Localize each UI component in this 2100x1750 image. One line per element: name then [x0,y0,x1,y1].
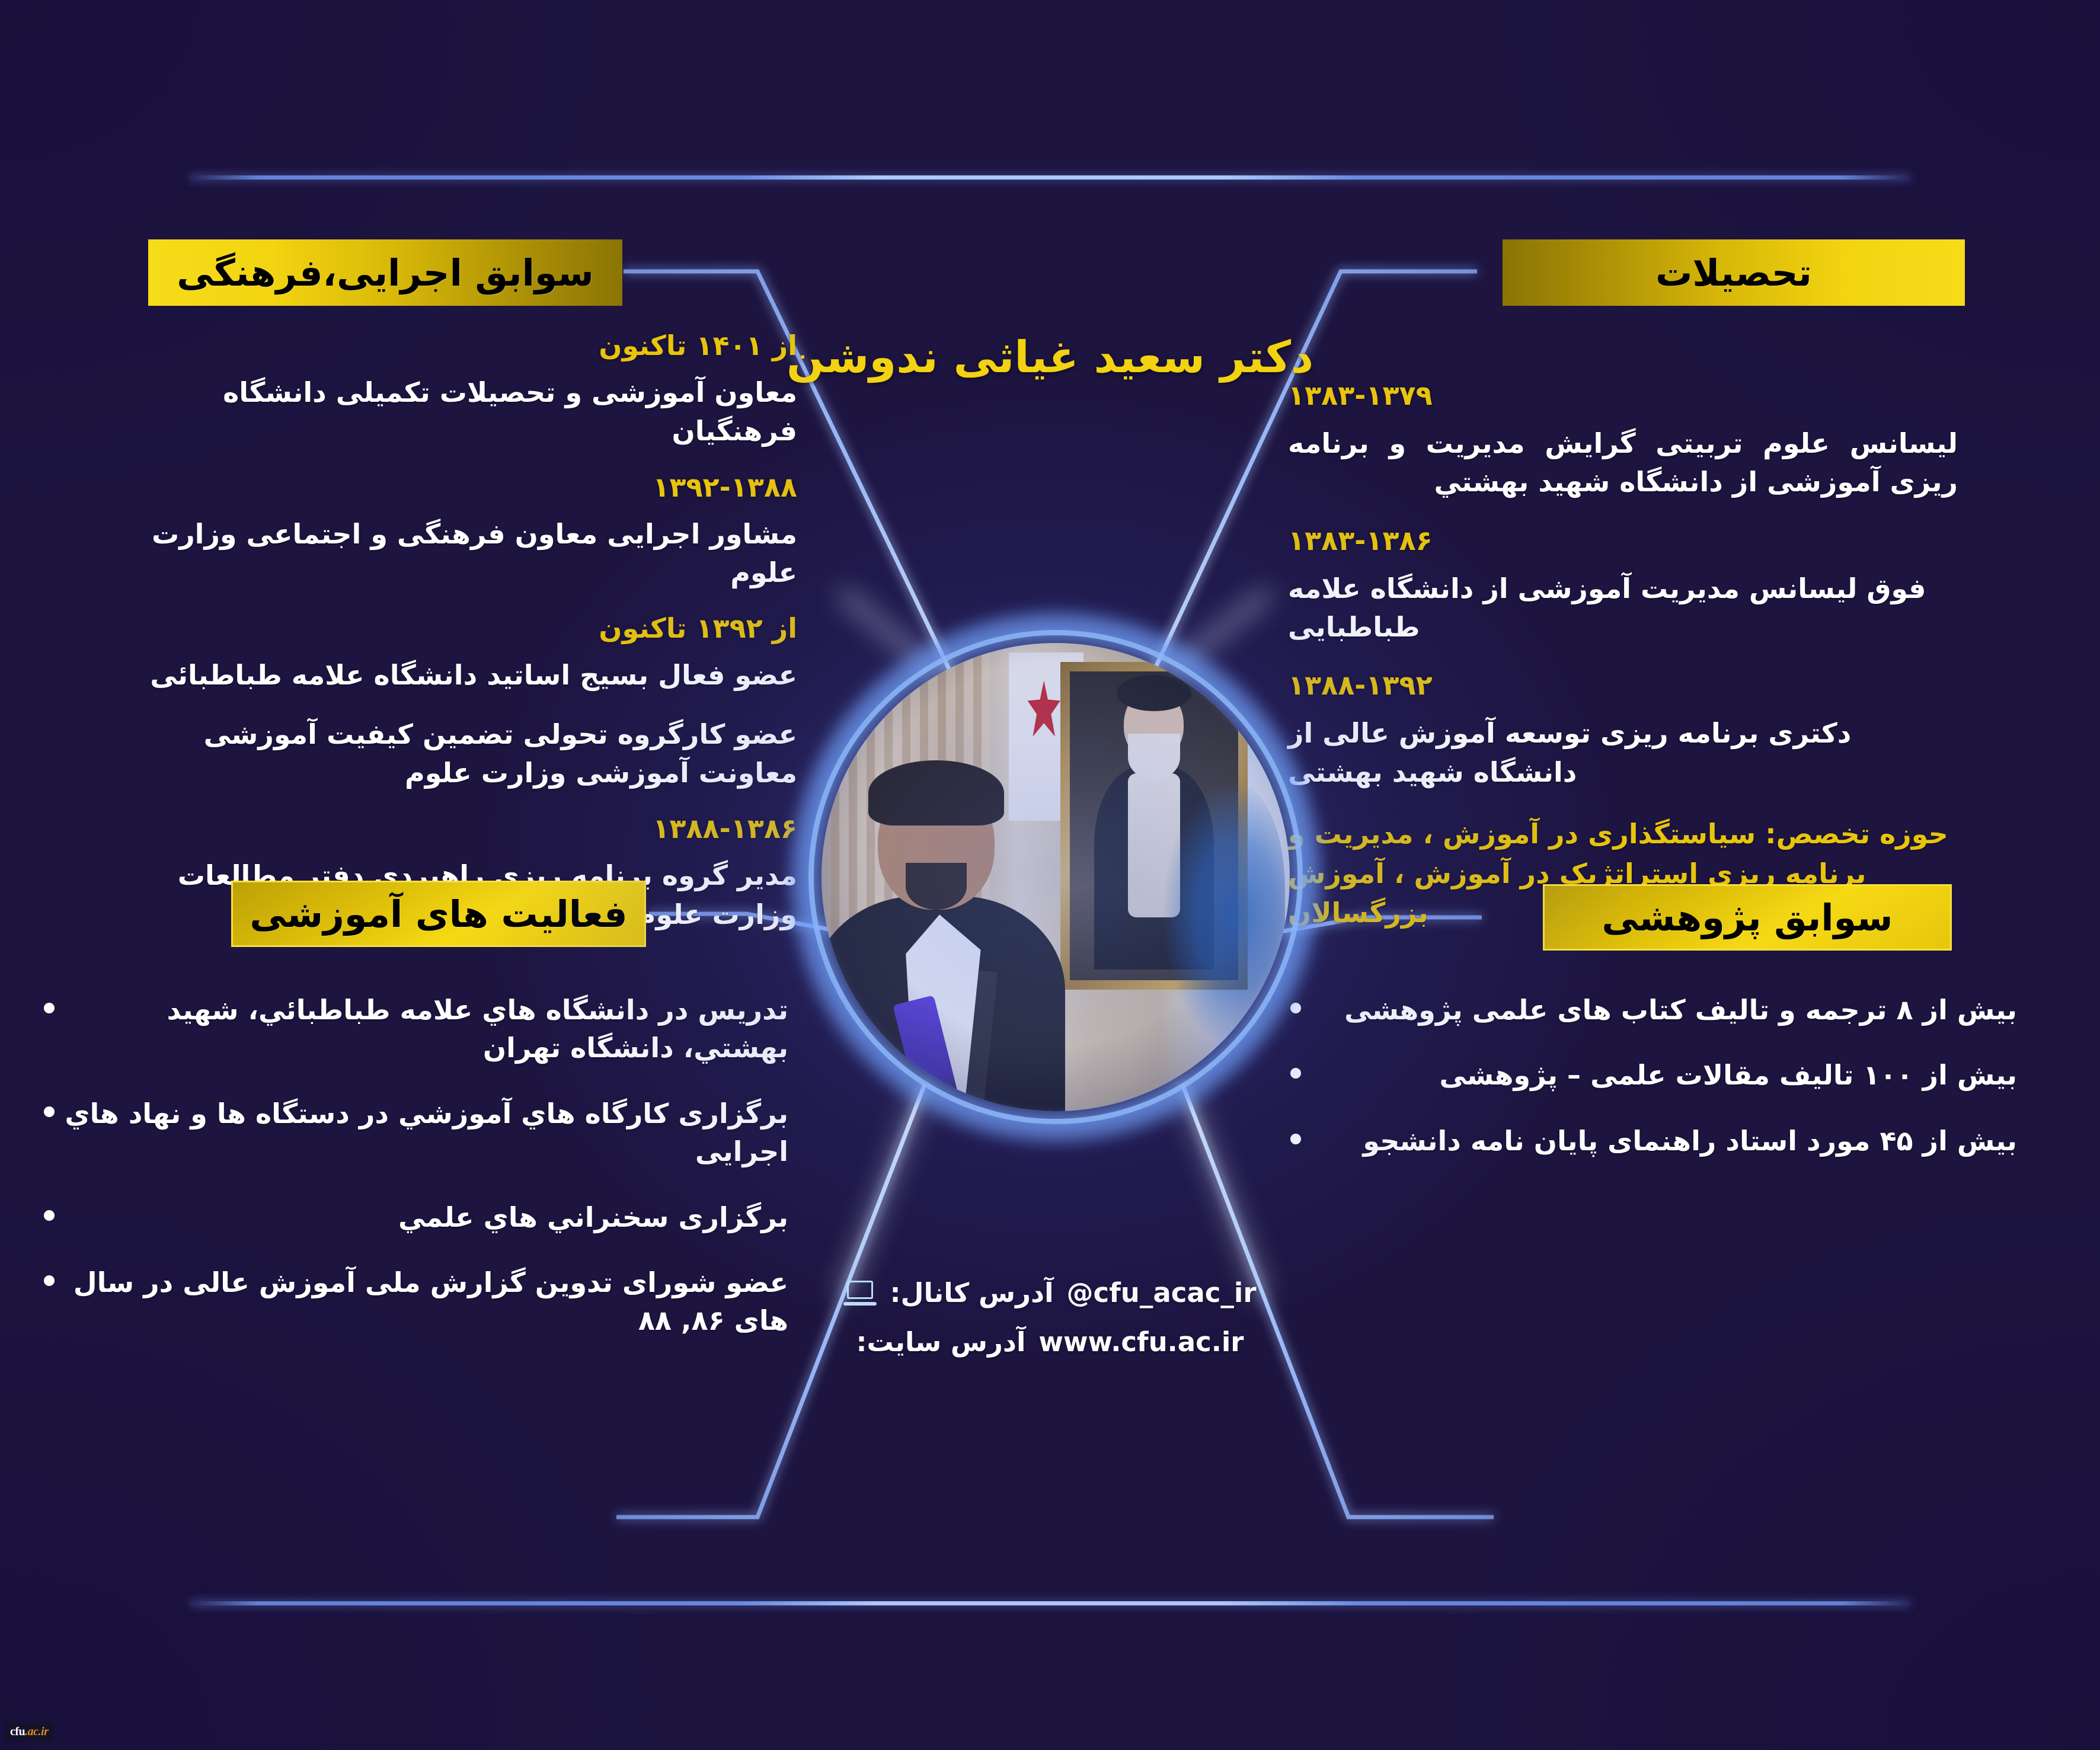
contact-channel-line: @cfu_acac_ir آدرس کانال: [0,1277,2100,1308]
section-header-executive: سوابق اجرایی،فرهنگی [148,239,622,306]
contact-channel-label: آدرس کانال: [890,1277,1053,1308]
laptop-icon [843,1281,877,1306]
research-item-1: بیش از ۸ ترجمه و تالیف کتاب های علمی پژو… [1301,991,2017,1029]
research-item-2: بیش از ۱۰۰ تالیف مقالات علمی – پژوهشی [1301,1056,2017,1094]
bullet-dot-icon [1290,1003,1301,1013]
contact-site-label: آدرس سایت: [856,1326,1026,1358]
research-records-list: بیش از ۸ ترجمه و تالیف کتاب های علمی پژو… [1270,991,2017,1187]
section-header-teaching: فعالیت های آموزشی [231,881,646,947]
list-item: بیش از ۱۰۰ تالیف مقالات علمی – پژوهشی [1270,1056,2017,1094]
education-text-2: فوق لیسانس مدیریت آموزشی از دانشگاه علام… [1288,570,1958,647]
bottom-divider-line [190,1601,1910,1605]
executive-period-5: ۱۳۸۸-۱۳۸۶ [145,812,797,844]
bullet-dot-icon [44,1003,55,1013]
research-item-3: بیش از ۴۵ مورد استاد راهنمای پایان نامه … [1301,1122,2017,1160]
executive-period-1: از ۱۴۰۱ تاکنون [145,329,797,361]
infographic-poster: دکتر سعید غیاثی ندوشن تحصیلات ۱۳۸۳-۱۳۷۹ … [0,0,2100,1750]
contact-channel-value[interactable]: @cfu_acac_ir [1067,1277,1257,1308]
executive-text-1: معاون آموزشی و تحصیلات تکمیلی دانشگاه فر… [145,373,797,451]
executive-text-2: مشاور اجرایی معاون فرهنگی و اجتماعی وزار… [145,515,797,593]
list-item: برگزاری کارگاه هاي آموزشي در دستگاه ها و… [24,1095,788,1171]
list-item: تدریس در دانشگاه هاي علامه طباطبائي، شهی… [24,991,788,1067]
portrait-container [822,643,1290,1111]
education-period-2: ۱۳۸۳-۱۳۸۶ [1288,524,1958,556]
list-item: بیش از ۴۵ مورد استاد راهنمای پایان نامه … [1270,1122,2017,1160]
contact-site-line: www.cfu.ac.ir آدرس سایت: [0,1326,2100,1358]
bullet-dot-icon [44,1106,55,1117]
watermark-part-1: cfu [10,1725,25,1738]
bullet-dot-icon [1290,1134,1301,1144]
bullet-dot-icon [1290,1068,1301,1079]
list-item: بیش از ۸ ترجمه و تالیف کتاب های علمی پژو… [1270,991,2017,1029]
section-header-education: تحصیلات [1503,239,1965,306]
contact-block: @cfu_acac_ir آدرس کانال: www.cfu.ac.ir آ… [0,1277,2100,1375]
teaching-item-2: برگزاری کارگاه هاي آموزشي در دستگاه ها و… [55,1095,788,1171]
executive-period-3: از ۱۳۹۲ تاکنون [145,612,797,644]
education-content: ۱۳۸۳-۱۳۷۹ لیسانس علوم تربیتی گرایش مدیری… [1288,379,1958,933]
education-period-1: ۱۳۸۳-۱۳۷۹ [1288,379,1958,411]
bullet-dot-icon [44,1210,55,1221]
education-text-3: دکتری برنامه ریزی توسعه آموزش عالی از دا… [1288,714,1958,792]
executive-period-2: ۱۳۹۲-۱۳۸۸ [145,471,797,503]
contact-site-value[interactable]: www.cfu.ac.ir [1038,1326,1244,1358]
vignette-bottom-right [1389,1157,2100,1750]
executive-text-3: عضو فعال بسیج اساتید دانشگاه علامه طباطب… [145,656,797,695]
list-item: برگزاری سخنراني هاي علمي [24,1198,788,1236]
watermark-part-2: .ac.ir [25,1725,48,1738]
site-watermark: cfu.ac.ir [5,1722,53,1742]
section-header-research: سوابق پژوهشی [1543,884,1952,951]
top-divider-line [190,175,1910,180]
executive-content: از ۱۴۰۱ تاکنون معاون آموزشی و تحصیلات تک… [145,329,797,954]
executive-text-4: عضو کارگروه تحولی تضمین کیفیت آموزشی معا… [145,715,797,793]
education-text-1: لیسانس علوم تربیتی گرایش مدیریت و برنامه… [1288,424,1958,502]
teaching-item-3: برگزاری سخنراني هاي علمي [55,1198,788,1236]
teaching-item-1: تدریس در دانشگاه هاي علامه طباطبائي، شهی… [55,991,788,1067]
portrait-ring [808,630,1303,1124]
education-period-3: ۱۳۸۸-۱۳۹۲ [1288,669,1958,701]
